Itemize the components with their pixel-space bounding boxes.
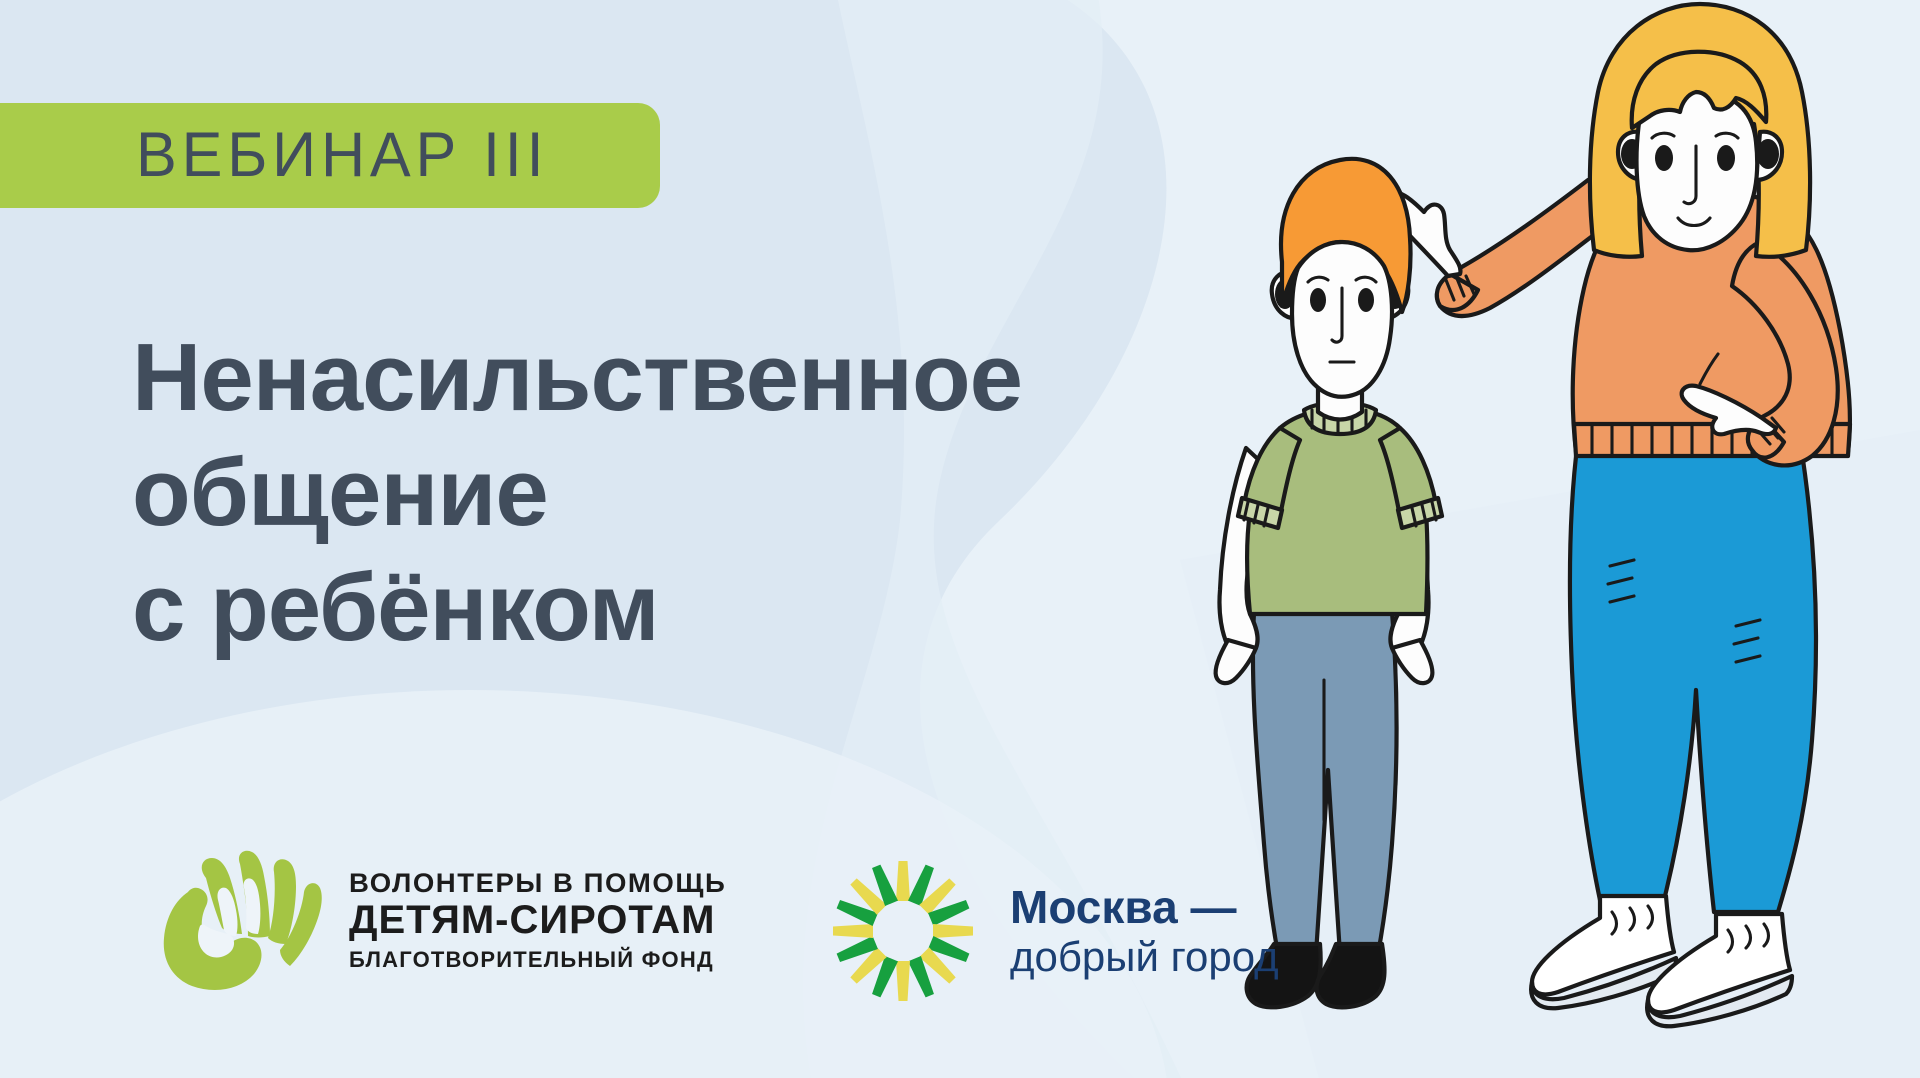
webinar-badge: ВЕБИНАР III — [0, 103, 660, 208]
fund-line-3: БЛАГОТВОРИТЕЛЬНЫЙ ФОНД — [349, 947, 719, 973]
fund-logo: ВОЛОНТЕРЫ В ПОМОЩЬ ДЕТЯМ-СИРОТАМ БЛАГОТВ… — [148, 848, 719, 993]
title-line-1: Ненасильственное — [132, 320, 1022, 435]
webinar-badge-label: ВЕБИНАР III — [136, 124, 548, 187]
fund-line-2: ДЕТЯМ-СИРОТАМ — [349, 898, 719, 943]
fund-logo-text: ВОЛОНТЕРЫ В ПОМОЩЬ ДЕТЯМ-СИРОТАМ БЛАГОТВ… — [349, 868, 719, 973]
title-line-3: с ребёнком — [132, 550, 1022, 665]
city-logo-text: Москва — добрый город — [1010, 882, 1279, 981]
green-hand-icon — [148, 848, 323, 993]
slide-canvas: .ink { stroke:#1a1a1a; stroke-width:4.2;… — [0, 0, 1920, 1078]
fund-line-1: ВОЛОНТЕРЫ В ПОМОЩЬ — [349, 868, 726, 899]
city-line-1: Москва — — [1010, 882, 1279, 934]
page-title: Ненасильственное общение с ребёнком — [132, 320, 1022, 666]
logo-strip: ВОЛОНТЕРЫ В ПОМОЩЬ ДЕТЯМ-СИРОТАМ БЛАГОТВ… — [0, 828, 1920, 1078]
sunburst-icon — [828, 856, 978, 1006]
title-line-2: общение — [132, 435, 1022, 550]
city-line-2: добрый город — [1010, 933, 1279, 980]
city-logo: Москва — добрый город — [828, 856, 1279, 1006]
